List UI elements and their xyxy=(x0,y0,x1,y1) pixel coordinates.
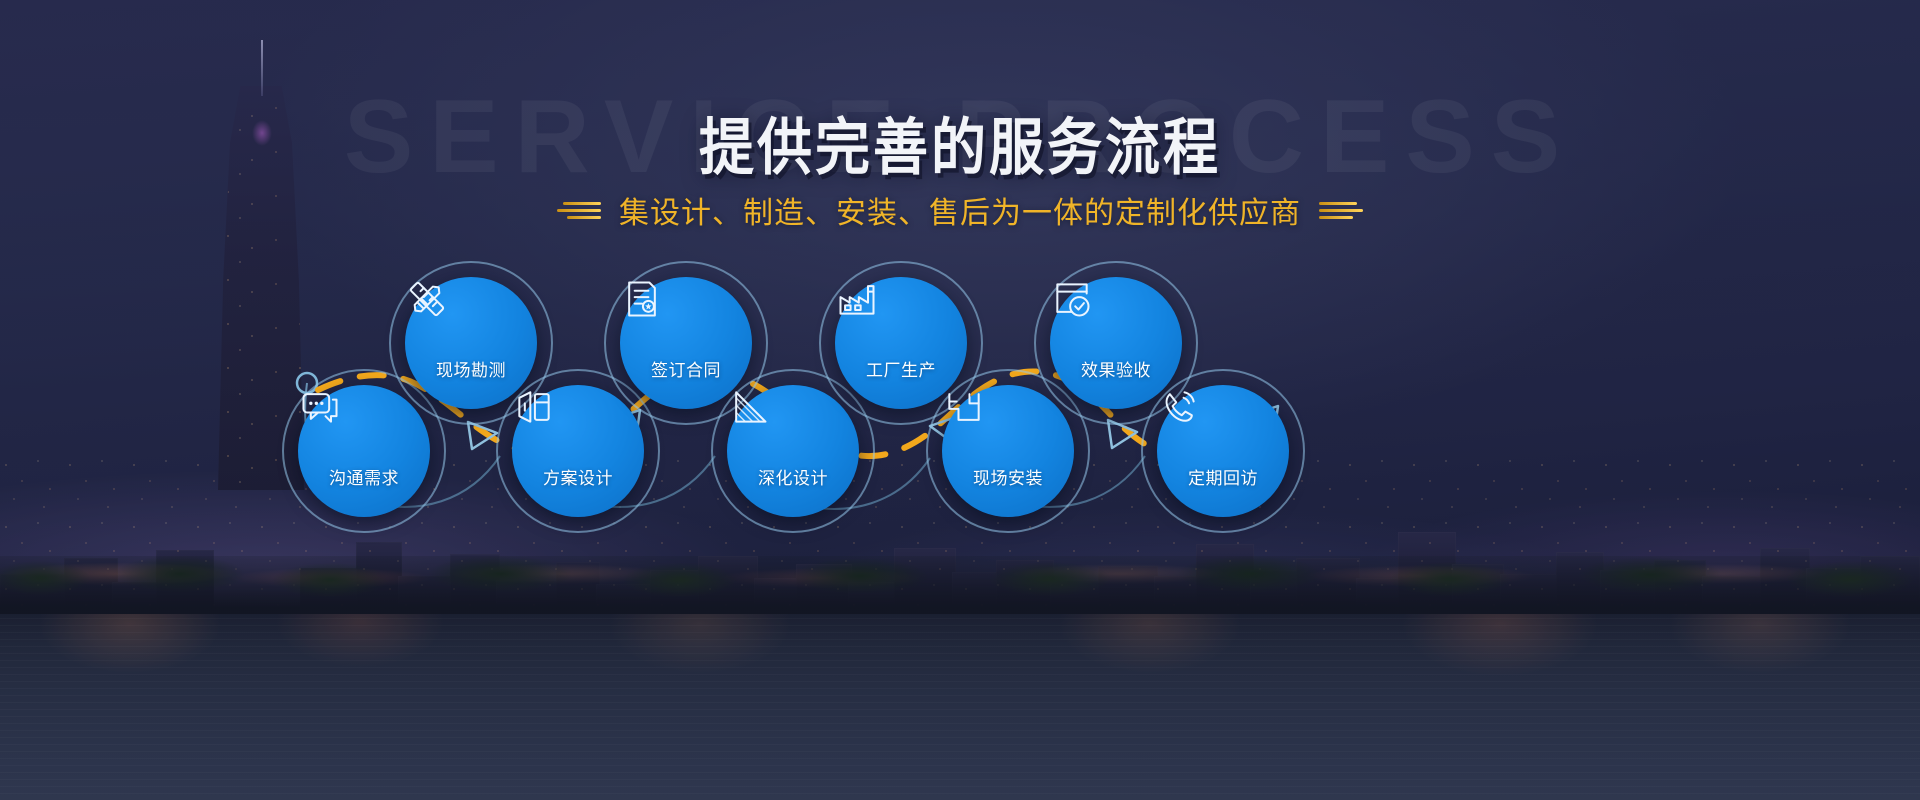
process-step-9[interactable]: 定期回访 xyxy=(1157,385,1289,517)
process-step-7[interactable]: 现场安装 xyxy=(942,385,1074,517)
check-document-icon xyxy=(1094,308,1138,352)
process-step-label: 定期回访 xyxy=(1188,464,1258,489)
process-step-5[interactable]: 深化设计 xyxy=(727,385,859,517)
phone-call-icon xyxy=(1201,416,1245,460)
triple-dash-left-icon xyxy=(557,200,601,220)
chat-bubble-icon xyxy=(342,416,386,460)
factory-icon xyxy=(879,308,923,352)
process-step-label: 方案设计 xyxy=(543,464,613,489)
process-step-label: 工厂生产 xyxy=(866,356,936,381)
ruler-pencil-icon xyxy=(449,308,493,352)
contract-seal-icon xyxy=(664,308,708,352)
process-step-label: 沟通需求 xyxy=(329,464,399,489)
page-title: 提供完善的服务流程 xyxy=(0,97,1920,187)
process-step-label: 效果验收 xyxy=(1081,356,1151,381)
install-bracket-icon xyxy=(986,416,1030,460)
process-step-label: 现场安装 xyxy=(973,464,1043,489)
layout-panel-icon xyxy=(556,416,600,460)
process-step-3[interactable]: 方案设计 xyxy=(512,385,644,517)
process-step-label: 签订合同 xyxy=(651,356,721,381)
set-square-icon xyxy=(771,416,815,460)
banner-stage: SERVICE PROCESS 提供完善的服务流程 集设计、制造、安装、售后为一… xyxy=(0,0,1920,800)
triple-dash-right-icon xyxy=(1319,200,1363,220)
process-step-label: 深化设计 xyxy=(758,464,828,489)
subtitle-row: 集设计、制造、安装、售后为一体的定制化供应商 xyxy=(0,188,1920,232)
process-step-label: 现场勘测 xyxy=(436,356,506,381)
process-flow: 沟通需求 现场勘测 xyxy=(0,250,1920,540)
page-subtitle: 集设计、制造、安装、售后为一体的定制化供应商 xyxy=(619,188,1301,232)
process-step-1[interactable]: 沟通需求 xyxy=(298,385,430,517)
